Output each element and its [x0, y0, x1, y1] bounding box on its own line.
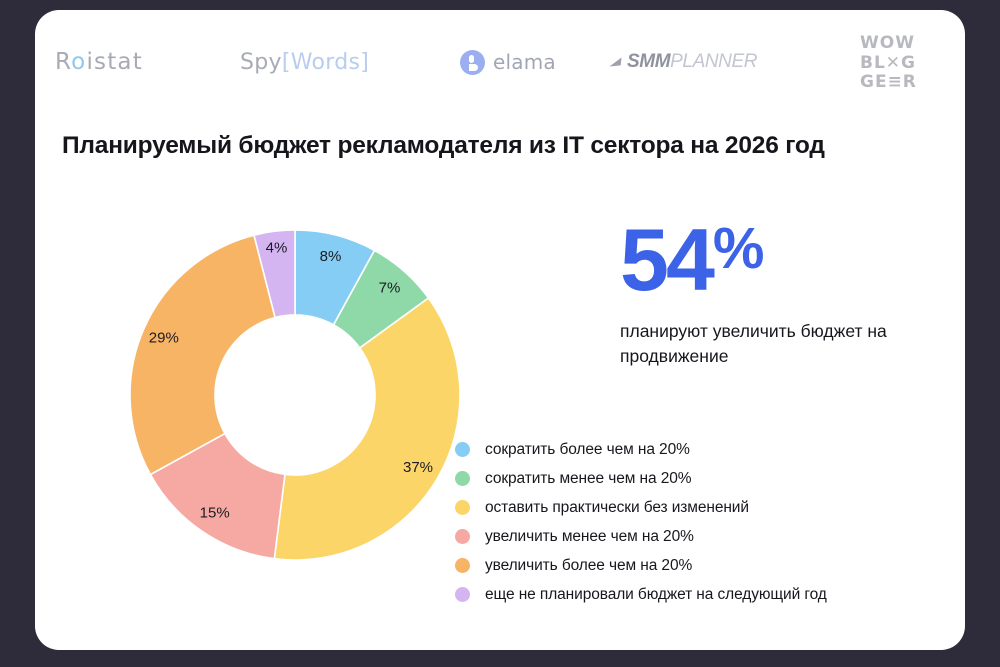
donut-slice[interactable]: [130, 235, 275, 474]
legend-item-label: оставить практически без изменений: [485, 499, 749, 517]
donut-slice-label: 8%: [320, 248, 342, 265]
donut-chart-svg: 8%7%37%15%29%4%: [95, 195, 495, 595]
logo-spywords: Spy[Words]: [240, 32, 369, 92]
arrow-icon: [609, 57, 621, 66]
stat-value: 54 %: [620, 220, 965, 301]
slide-canvas: Roistat Spy[Words] elama SMMPLANNER WOW …: [0, 0, 1000, 667]
legend-item[interactable]: увеличить менее чем на 20%: [455, 522, 955, 551]
legend-item[interactable]: увеличить более чем на 20%: [455, 551, 955, 580]
headline-stat: 54 % планируют увеличить бюджет на продв…: [620, 220, 965, 369]
legend-item[interactable]: оставить практически без изменений: [455, 493, 955, 522]
wow-line-3: GE≡R: [860, 73, 917, 91]
legend-item[interactable]: сократить менее чем на 20%: [455, 464, 955, 493]
chart-legend: сократить более чем на 20%сократить мене…: [455, 435, 955, 609]
legend-item[interactable]: еще не планировали бюджет на следующий г…: [455, 580, 955, 609]
stat-percent-sign: %: [713, 222, 763, 275]
legend-item[interactable]: сократить более чем на 20%: [455, 435, 955, 464]
donut-slice-label: 15%: [200, 505, 230, 522]
donut-chart: 8%7%37%15%29%4%: [95, 195, 495, 595]
roistat-dot-glyph: o: [71, 49, 86, 75]
donut-slice-label: 4%: [266, 240, 288, 257]
stat-number-text: 54: [620, 220, 712, 301]
page-title: Планируемый бюджет рекламодателя из IT с…: [62, 132, 942, 160]
legend-color-swatch: [455, 587, 470, 602]
legend-color-swatch: [455, 471, 470, 486]
logo-roistat-text: Roistat: [55, 49, 143, 75]
legend-item-label: увеличить более чем на 20%: [485, 557, 692, 575]
logo-wowblogger-text: WOW BL✕G GE≡R: [860, 34, 917, 91]
logo-elama-text: elama: [493, 50, 556, 74]
donut-slice-label: 7%: [379, 279, 401, 296]
legend-color-swatch: [455, 500, 470, 515]
wow-line-2: BL✕G: [860, 54, 917, 72]
elama-mark-icon: [460, 50, 485, 75]
content-card: Roistat Spy[Words] elama SMMPLANNER WOW …: [35, 10, 965, 650]
donut-slice-group: [130, 230, 460, 560]
legend-item-label: еще не планировали бюджет на следующий г…: [485, 586, 827, 604]
logo-spywords-text: Spy[Words]: [240, 50, 369, 75]
stat-caption: планируют увеличить бюджет на продвижени…: [620, 319, 930, 369]
partner-logo-strip: Roistat Spy[Words] elama SMMPLANNER WOW …: [35, 32, 965, 92]
logo-smmplanner-text: SMMPLANNER: [627, 51, 757, 73]
wow-line-1: WOW: [860, 34, 917, 52]
legend-color-swatch: [455, 529, 470, 544]
donut-slice-label: 29%: [149, 330, 179, 347]
logo-smmplanner: SMMPLANNER: [610, 32, 757, 92]
logo-wowblogger: WOW BL✕G GE≡R: [860, 34, 917, 92]
legend-color-swatch: [455, 442, 470, 457]
donut-slice-label: 37%: [403, 459, 433, 476]
logo-roistat: Roistat: [55, 32, 143, 92]
legend-item-label: сократить менее чем на 20%: [485, 470, 691, 488]
logo-elama: elama: [460, 32, 556, 92]
legend-item-label: сократить более чем на 20%: [485, 441, 690, 459]
legend-item-label: увеличить менее чем на 20%: [485, 528, 694, 546]
legend-color-swatch: [455, 558, 470, 573]
